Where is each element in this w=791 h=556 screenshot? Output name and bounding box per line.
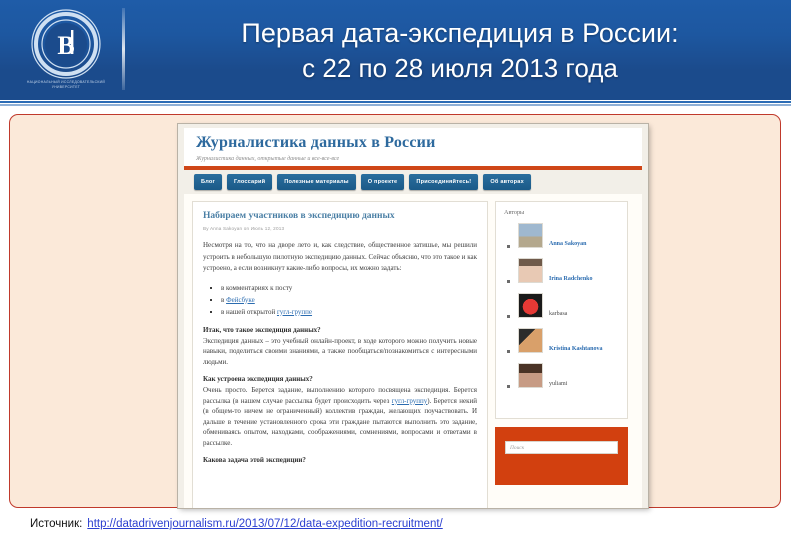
avatar: [518, 223, 543, 248]
slide: B НАЦИОНАЛЬНЫЙ ИССЛЕДОВАТЕЛЬСКИЙ УНИВЕРС…: [0, 0, 791, 556]
nav-item-materials[interactable]: Полезные материалы: [277, 174, 355, 190]
list-item: в нашей открытой гугл-группе: [221, 306, 477, 318]
article-container: Набираем участников в экспедицию данных …: [192, 201, 488, 508]
list-item: в Фейсбуке: [221, 294, 477, 306]
author-name[interactable]: Irina Radchenko: [549, 276, 593, 282]
avatar: [518, 258, 543, 283]
hse-logo: B НАЦИОНАЛЬНЫЙ ИССЛЕДОВАТЕЛЬСКИЙ УНИВЕРС…: [14, 6, 118, 96]
article-question-2: Как устроена экспедиция данных?: [203, 374, 477, 385]
article-answer-2: Очень просто. Берется задание, выполнени…: [203, 385, 477, 448]
bullet-text: в нашей открытой: [221, 308, 277, 316]
article-heading[interactable]: Набираем участников в экспедицию данных: [203, 210, 477, 222]
header-divider: [122, 8, 125, 90]
search-input[interactable]: Поиск: [505, 441, 618, 454]
authors-list: Anna Sakoyan Irina Radchenko: [504, 223, 619, 391]
hse-logo-caption: НАЦИОНАЛЬНЫЙ ИССЛЕДОВАТЕЛЬСКИЙ УНИВЕРСИТ…: [14, 80, 118, 90]
embedded-website-screenshot: Журналистика данных в России Журналистик…: [178, 124, 648, 508]
nav-item-join[interactable]: Присоединяйтесь!: [409, 174, 478, 190]
hse-emblem-icon: B: [30, 8, 102, 80]
page-title-line1: Первая дата-экспедиция в России:: [241, 16, 678, 51]
website-viewport: Журналистика данных в России Журналистик…: [184, 128, 642, 508]
authors-widget: Авторы Anna Sakoyan Ir: [495, 201, 628, 419]
website-sidebar: Авторы Anna Sakoyan Ir: [495, 201, 628, 508]
article-question-1: Итак, что такое экспедиция данных?: [203, 325, 477, 336]
nav-item-glossary[interactable]: Глоссарий: [227, 174, 272, 190]
author-name[interactable]: yuliami: [549, 381, 567, 387]
source-label: Источник:: [30, 518, 82, 530]
avatar: [518, 293, 543, 318]
list-item[interactable]: Anna Sakoyan: [504, 223, 619, 251]
author-name[interactable]: Kristina Kashtanova: [549, 346, 603, 352]
avatar: [518, 328, 543, 353]
article-answer-1: Экспедиция данных – это учебный онлайн-п…: [203, 336, 477, 368]
facebook-link[interactable]: Фейсбуке: [226, 296, 255, 304]
google-group-link-inline[interactable]: гугл-группу: [392, 397, 427, 405]
content-panel: Журналистика данных в России Журналистик…: [9, 114, 781, 508]
list-bullet-icon: [507, 385, 510, 388]
article-byline: By Anna Sakoyan on Июль 12, 2013: [203, 226, 477, 231]
article-question-3: Какова задача этой экспедиции?: [203, 455, 477, 466]
page-title-line2: с 22 по 28 июля 2013 года: [302, 51, 618, 86]
nav-item-about-project[interactable]: О проекте: [361, 174, 405, 190]
header-rule-lines: [0, 100, 791, 108]
list-item[interactable]: karbasa: [504, 293, 619, 321]
list-bullet-icon: [507, 245, 510, 248]
source-link[interactable]: http://datadrivenjournalism.ru/2013/07/1…: [87, 518, 442, 530]
list-bullet-icon: [507, 315, 510, 318]
avatar: [518, 363, 543, 388]
nav-item-about-authors[interactable]: Об авторах: [483, 174, 531, 190]
page-title: Первая дата-экспедиция в России: с 22 по…: [145, 10, 775, 92]
nav-item-blog[interactable]: Блог: [194, 174, 222, 190]
list-bullet-icon: [507, 350, 510, 353]
list-bullet-icon: [507, 280, 510, 283]
author-name[interactable]: Anna Sakoyan: [549, 241, 587, 247]
article-intro-paragraph: Несмотря на то, что на дворе лето и, как…: [203, 240, 477, 275]
article-bullet-list: в комментариях к посту в Фейсбуке в наше…: [221, 282, 477, 318]
google-group-link[interactable]: гугл-группе: [277, 308, 312, 316]
list-item[interactable]: Kristina Kashtanova: [504, 328, 619, 356]
author-name[interactable]: karbasa: [549, 311, 567, 317]
list-item[interactable]: yuliami: [504, 363, 619, 391]
website-navbar: Блог Глоссарий Полезные материалы О прое…: [184, 170, 642, 194]
search-widget: Поиск: [495, 427, 628, 485]
slide-header-banner: B НАЦИОНАЛЬНЫЙ ИССЛЕДОВАТЕЛЬСКИЙ УНИВЕРС…: [0, 0, 791, 100]
website-title: Журналистика данных в России: [196, 134, 642, 152]
website-body: Набираем участников в экспедицию данных …: [184, 194, 642, 508]
authors-widget-title: Авторы: [504, 209, 619, 216]
website-header: Журналистика данных в России Журналистик…: [184, 128, 642, 166]
website-tagline: Журналистика данных, открытые данные и в…: [196, 154, 642, 164]
list-item: в комментариях к посту: [221, 282, 477, 294]
list-item[interactable]: Irina Radchenko: [504, 258, 619, 286]
bullet-text: в комментариях к посту: [221, 284, 292, 292]
source-footer: Источник: http://datadrivenjournalism.ru…: [30, 514, 770, 534]
